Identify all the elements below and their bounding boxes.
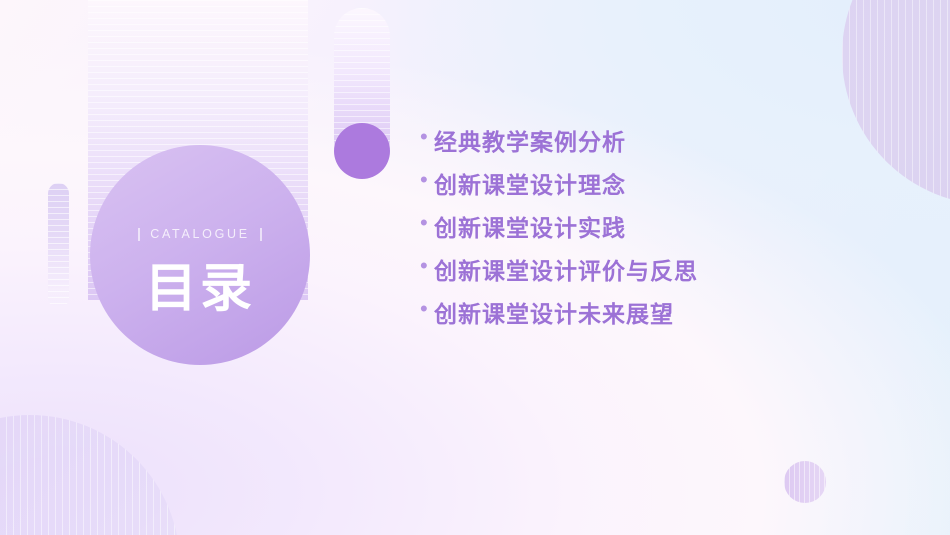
catalogue-eyebrow-label: CATALOGUE (150, 227, 250, 241)
tick-right-icon (260, 228, 262, 241)
bullet-icon: • (420, 212, 434, 234)
toc-item-label: 创新课堂设计实践 (434, 209, 626, 243)
bullet-icon: • (420, 255, 434, 277)
toc-item-1[interactable]: • 经典教学案例分析 (420, 118, 890, 161)
striped-circle-small-decoration (784, 461, 826, 503)
striped-circle-bottom-left-decoration (0, 415, 180, 535)
bullet-icon: • (420, 169, 434, 191)
catalogue-eyebrow: CATALOGUE (138, 227, 262, 241)
toc-item-5[interactable]: • 创新课堂设计未来展望 (420, 290, 890, 333)
toc-item-3[interactable]: • 创新课堂设计实践 (420, 204, 890, 247)
table-of-contents-list: • 经典教学案例分析 • 创新课堂设计理念 • 创新课堂设计实践 • 创新课堂设… (420, 118, 890, 333)
thin-rounded-bar-decoration (48, 183, 69, 308)
toc-item-4[interactable]: • 创新课堂设计评价与反思 (420, 247, 890, 290)
tick-left-icon (138, 228, 140, 241)
presentation-slide: CATALOGUE 目录 • 经典教学案例分析 • 创新课堂设计理念 • 创新课… (0, 0, 950, 535)
rounded-bar-decoration (334, 8, 390, 168)
toc-item-2[interactable]: • 创新课堂设计理念 (420, 161, 890, 204)
bullet-icon: • (420, 126, 434, 148)
solid-circle-accent-decoration (334, 123, 390, 179)
toc-item-label: 创新课堂设计理念 (434, 166, 626, 200)
toc-item-label: 经典教学案例分析 (434, 123, 626, 157)
bullet-icon: • (420, 298, 434, 320)
catalogue-circle: CATALOGUE 目录 (90, 145, 310, 365)
toc-item-label: 创新课堂设计评价与反思 (434, 252, 698, 286)
catalogue-title: 目录 (145, 263, 255, 315)
toc-item-label: 创新课堂设计未来展望 (434, 295, 674, 329)
